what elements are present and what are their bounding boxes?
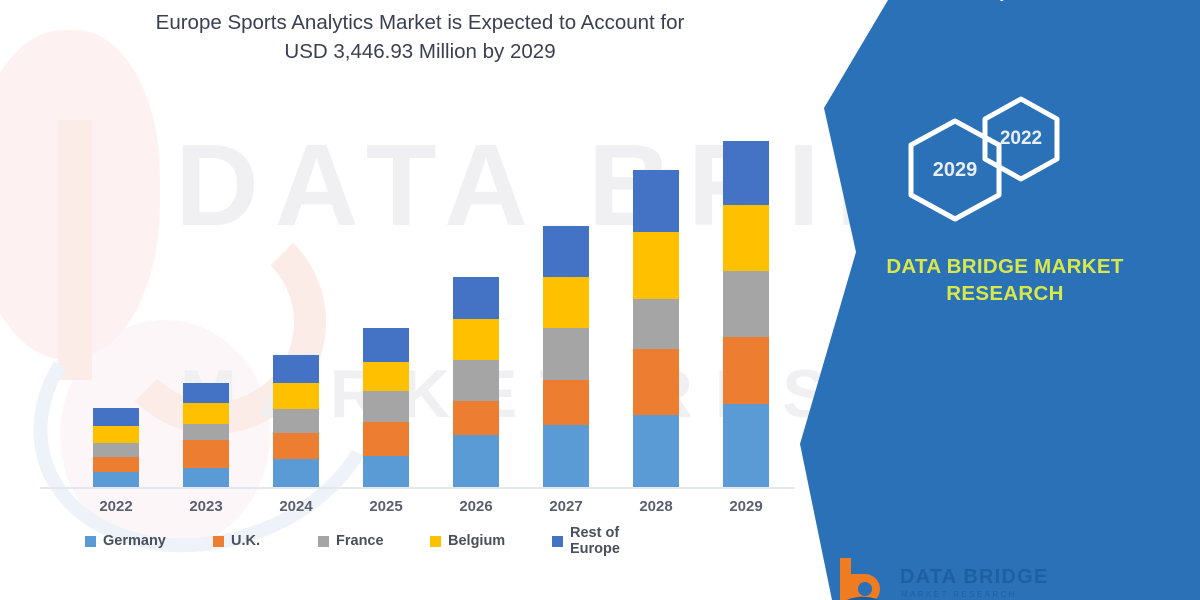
logo-wordmark: DATA BRIDGE: [900, 566, 1048, 589]
x-axis-label-2029: 2029: [711, 498, 781, 515]
bar-segment-france: [183, 424, 229, 440]
bar-segment-france: [633, 299, 679, 349]
bar-2022: [93, 408, 139, 487]
bar-segment-germany: [93, 472, 139, 487]
bar-segment-germany: [273, 459, 319, 487]
bar-segment-germany: [363, 456, 409, 487]
brand-line-1: DATA BRIDGE MARKET: [840, 253, 1170, 280]
x-axis-label-2024: 2024: [261, 498, 331, 515]
bar-segment-u-k-: [633, 349, 679, 415]
x-axis-label-2026: 2026: [441, 498, 511, 515]
bar-segment-france: [93, 443, 139, 457]
bar-segment-germany: [183, 468, 229, 487]
bar-segment-france: [453, 360, 499, 402]
x-axis-label-2025: 2025: [351, 498, 421, 515]
bar-segment-belgium: [93, 426, 139, 443]
bar-segment-rest-of-europe: [543, 226, 589, 277]
bar-segment-rest-of-europe: [273, 355, 319, 382]
bar-segment-belgium: [273, 383, 319, 409]
data-bridge-b-mark-icon: [838, 556, 886, 600]
legend-swatch-icon: [318, 536, 329, 547]
chart-bars: [40, 90, 800, 487]
legend-label: U.K.: [231, 533, 260, 549]
bar-segment-france: [543, 328, 589, 380]
x-axis-labels: 20222023202420252026202720282029: [40, 498, 800, 520]
bar-segment-u-k-: [543, 380, 589, 425]
legend-label: Rest of Europe: [570, 525, 620, 557]
title-line-1: Europe Sports Analytics Market is Expect…: [60, 8, 780, 37]
bar-segment-belgium: [183, 403, 229, 424]
infographic-canvas: DATA BRIDGE MARKET RESEARCH Europe Sport…: [0, 0, 1200, 600]
page-title: Europe Sports Analytics Market is Expect…: [60, 8, 780, 66]
legend-item-belgium[interactable]: Belgium: [430, 533, 505, 549]
brand-line-2: RESEARCH: [840, 280, 1170, 307]
brand-name: DATA BRIDGE MARKET RESEARCH: [840, 253, 1170, 307]
bar-segment-belgium: [453, 319, 499, 360]
bar-2023: [183, 383, 229, 487]
legend-swatch-icon: [430, 536, 441, 547]
bar-segment-u-k-: [363, 422, 409, 455]
bar-segment-belgium: [723, 205, 769, 271]
legend-swatch-icon: [552, 536, 563, 547]
logo-tagline: MARKET RESEARCH: [901, 590, 1017, 599]
panel-title: by 2029: [858, 0, 1188, 6]
bar-segment-belgium: [363, 362, 409, 391]
bar-2027: [543, 226, 589, 487]
bar-2024: [273, 355, 319, 487]
bar-2026: [453, 277, 499, 487]
bar-segment-belgium: [543, 277, 589, 328]
bar-segment-rest-of-europe: [453, 277, 499, 319]
legend-label: Germany: [103, 533, 166, 549]
legend-label: Belgium: [448, 533, 505, 549]
bar-2025: [363, 328, 409, 487]
bar-segment-u-k-: [723, 337, 769, 405]
legend-label: France: [336, 533, 384, 549]
bar-segment-rest-of-europe: [723, 141, 769, 205]
bar-segment-u-k-: [453, 401, 499, 434]
x-axis-label-2028: 2028: [621, 498, 691, 515]
bar-2028: [633, 170, 679, 487]
bar-segment-u-k-: [183, 440, 229, 468]
bar-segment-rest-of-europe: [183, 383, 229, 404]
hexagon-group: 2029 2022: [885, 95, 1105, 225]
bar-2029: [723, 141, 769, 487]
x-axis-label-2023: 2023: [171, 498, 241, 515]
x-axis-label-2022: 2022: [81, 498, 151, 515]
hexagon-2022-label: 2022: [1000, 128, 1042, 150]
bar-segment-germany: [723, 404, 769, 487]
title-line-2: USD 3,446.93 Million by 2029: [60, 37, 780, 66]
bar-segment-u-k-: [273, 433, 319, 459]
x-axis-line: [40, 487, 795, 489]
bar-segment-germany: [543, 425, 589, 487]
bar-segment-u-k-: [93, 457, 139, 473]
bar-segment-france: [273, 409, 319, 433]
bar-segment-rest-of-europe: [363, 328, 409, 361]
bar-segment-rest-of-europe: [633, 170, 679, 232]
hexagon-2022: 2022: [980, 95, 1062, 183]
legend-item-u-k-[interactable]: U.K.: [213, 533, 260, 549]
legend-item-germany[interactable]: Germany: [85, 533, 166, 549]
bar-segment-france: [363, 391, 409, 422]
legend-item-france[interactable]: France: [318, 533, 384, 549]
company-logo: DATA BRIDGE MARKET RESEARCH: [838, 556, 1088, 600]
legend-item-rest-of-europe[interactable]: Rest of Europe: [552, 525, 620, 557]
bar-segment-germany: [633, 415, 679, 487]
x-axis-label-2027: 2027: [531, 498, 601, 515]
legend-swatch-icon: [213, 536, 224, 547]
legend-swatch-icon: [85, 536, 96, 547]
hexagon-2029-label: 2029: [933, 159, 978, 182]
bar-segment-belgium: [633, 232, 679, 299]
bar-segment-germany: [453, 435, 499, 487]
bar-segment-rest-of-europe: [93, 408, 139, 427]
stacked-bar-chart: [40, 90, 800, 490]
bar-segment-france: [723, 271, 769, 337]
